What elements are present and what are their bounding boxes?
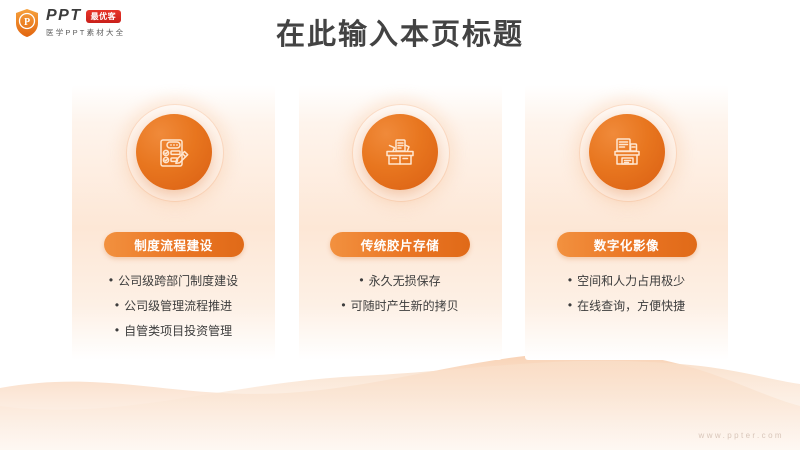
slide-canvas: P PPT 最优客 医学PPT素材大全 在此输入本页标题 xyxy=(0,0,800,450)
list-item-label: 公司级管理流程推进 xyxy=(124,300,232,312)
icon-container xyxy=(575,100,679,204)
list-item: • 永久无损保存 xyxy=(359,275,440,287)
bullet-marker: • xyxy=(568,274,572,286)
list-item: • 空间和人力占用极少 xyxy=(568,275,685,287)
card-label-pill[interactable]: 传统胶片存储 xyxy=(330,232,470,257)
bullet-marker: • xyxy=(568,299,572,311)
card-label-pill[interactable]: 数字化影像 xyxy=(557,232,697,257)
list-item-label: 在线查询，方便快捷 xyxy=(577,300,685,312)
list-item: • 自管类项目投资管理 xyxy=(115,325,232,337)
list-item: • 在线查询，方便快捷 xyxy=(568,300,685,312)
icon-container xyxy=(122,100,226,204)
bullet-marker: • xyxy=(109,274,113,286)
card-process-system[interactable]: 制度流程建设 • 公司级跨部门制度建设 • 公司级管理流程推进 • 自管类项目投… xyxy=(72,85,275,360)
list-item: • 可随时产生新的拷贝 xyxy=(341,300,458,312)
bullet-list: • 空间和人力占用极少 • 在线查询，方便快捷 xyxy=(525,275,728,325)
list-item: • 公司级管理流程推进 xyxy=(115,300,232,312)
list-item-label: 永久无损保存 xyxy=(369,275,441,287)
card-digital-imaging[interactable]: 数字化影像 • 空间和人力占用极少 • 在线查询，方便快捷 xyxy=(525,85,728,360)
list-item-label: 空间和人力占用极少 xyxy=(577,275,685,287)
bullet-list: • 永久无损保存 • 可随时产生新的拷贝 xyxy=(299,275,502,325)
bullet-marker: • xyxy=(115,324,119,336)
scanner-documents-icon xyxy=(589,114,665,190)
card-film-storage[interactable]: 传统胶片存储 • 永久无损保存 • 可随时产生新的拷贝 xyxy=(299,85,502,360)
bullet-list: • 公司级跨部门制度建设 • 公司级管理流程推进 • 自管类项目投资管理 xyxy=(72,275,275,350)
bullet-marker: • xyxy=(115,299,119,311)
bullet-marker: • xyxy=(341,299,345,311)
list-item: • 公司级跨部门制度建设 xyxy=(109,275,238,287)
clipboard-checklist-pencil-icon xyxy=(136,114,212,190)
site-watermark: www.ppter.com xyxy=(699,431,784,440)
bullet-marker: • xyxy=(359,274,363,286)
card-row: 制度流程建设 • 公司级跨部门制度建设 • 公司级管理流程推进 • 自管类项目投… xyxy=(72,85,728,360)
page-title: 在此输入本页标题 xyxy=(0,18,800,53)
list-item-label: 自管类项目投资管理 xyxy=(124,325,232,337)
card-label-pill[interactable]: 制度流程建设 xyxy=(104,232,244,257)
archive-box-documents-icon xyxy=(362,114,438,190)
list-item-label: 可随时产生新的拷贝 xyxy=(351,300,459,312)
icon-container xyxy=(348,100,452,204)
list-item-label: 公司级跨部门制度建设 xyxy=(118,275,238,287)
